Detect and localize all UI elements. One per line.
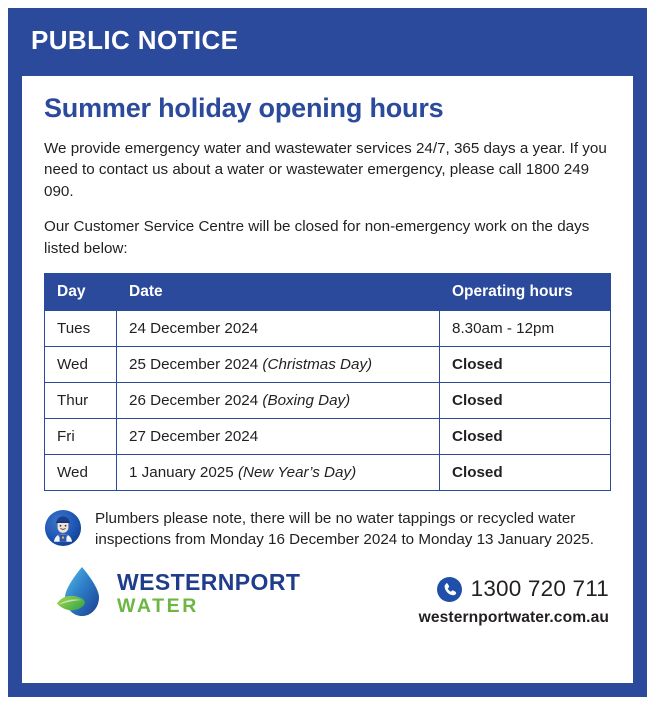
cell-day: Wed (45, 454, 117, 490)
table-row: Wed25 December 2024 (Christmas Day)Close… (45, 346, 611, 382)
cell-date: 1 January 2025 (New Year’s Day) (117, 454, 440, 490)
contact-block: 1300 720 711 westernportwater.com.au (419, 564, 611, 627)
plumber-note: Plumbers please note, there will be no w… (44, 507, 611, 551)
notice-header-title: PUBLIC NOTICE (31, 25, 238, 56)
plumber-icon (44, 509, 82, 547)
column-header-day: Day (45, 273, 117, 310)
opening-hours-table: Day Date Operating hours Tues24 December… (44, 273, 611, 491)
cell-date-text: 25 December 2024 (129, 356, 258, 373)
cell-date-text: 27 December 2024 (129, 428, 258, 445)
logo-wordmark: WESTERNPORT WATER (117, 571, 300, 617)
cell-day: Thur (45, 382, 117, 418)
table-row: Fri27 December 2024Closed (45, 418, 611, 454)
cell-operating-hours: Closed (440, 382, 611, 418)
westernport-water-logo: WESTERNPORT WATER (44, 564, 300, 624)
cell-date: 26 December 2024 (Boxing Day) (117, 382, 440, 418)
logo-name-top: WESTERNPORT (117, 571, 300, 594)
table-row: Wed1 January 2025 (New Year’s Day)Closed (45, 454, 611, 490)
phone-number: 1300 720 711 (471, 576, 609, 602)
cell-day: Wed (45, 346, 117, 382)
website-url[interactable]: westernportwater.com.au (419, 609, 609, 627)
cell-date-text: 1 January 2025 (129, 464, 234, 481)
cell-day: Fri (45, 418, 117, 454)
table-row: Tues24 December 20248.30am - 12pm (45, 310, 611, 346)
cell-date-text: 26 December 2024 (129, 392, 258, 409)
cell-date: 24 December 2024 (117, 310, 440, 346)
table-row: Thur26 December 2024 (Boxing Day)Closed (45, 382, 611, 418)
cell-date-holiday: (Boxing Day) (262, 392, 350, 409)
notice-header: PUBLIC NOTICE (8, 8, 647, 72)
closure-paragraph: Our Customer Service Centre will be clos… (44, 216, 611, 259)
logo-name-bottom: WATER (117, 597, 300, 617)
column-header-date: Date (117, 273, 440, 310)
column-header-hours: Operating hours (440, 273, 611, 310)
cell-day: Tues (45, 310, 117, 346)
notice-body: Summer holiday opening hours We provide … (22, 76, 633, 683)
intro-paragraph: We provide emergency water and wastewate… (44, 138, 611, 203)
phone-icon (437, 577, 462, 602)
cell-operating-hours: 8.30am - 12pm (440, 310, 611, 346)
notice-footer: WESTERNPORT WATER 1300 720 711 westernpo… (44, 564, 611, 627)
page-title: Summer holiday opening hours (44, 94, 611, 124)
cell-date: 27 December 2024 (117, 418, 440, 454)
cell-date-holiday: (Christmas Day) (262, 356, 372, 373)
plumber-note-text: Plumbers please note, there will be no w… (95, 507, 611, 551)
public-notice-card: PUBLIC NOTICE Summer holiday opening hou… (8, 8, 647, 697)
cell-date-holiday: (New Year’s Day) (238, 464, 356, 481)
cell-operating-hours: Closed (440, 346, 611, 382)
water-drop-leaf-logo-icon (54, 564, 106, 624)
cell-operating-hours: Closed (440, 454, 611, 490)
cell-date: 25 December 2024 (Christmas Day) (117, 346, 440, 382)
cell-date-text: 24 December 2024 (129, 320, 258, 337)
table-header-row: Day Date Operating hours (45, 273, 611, 310)
cell-operating-hours: Closed (440, 418, 611, 454)
phone-line[interactable]: 1300 720 711 (419, 576, 609, 602)
